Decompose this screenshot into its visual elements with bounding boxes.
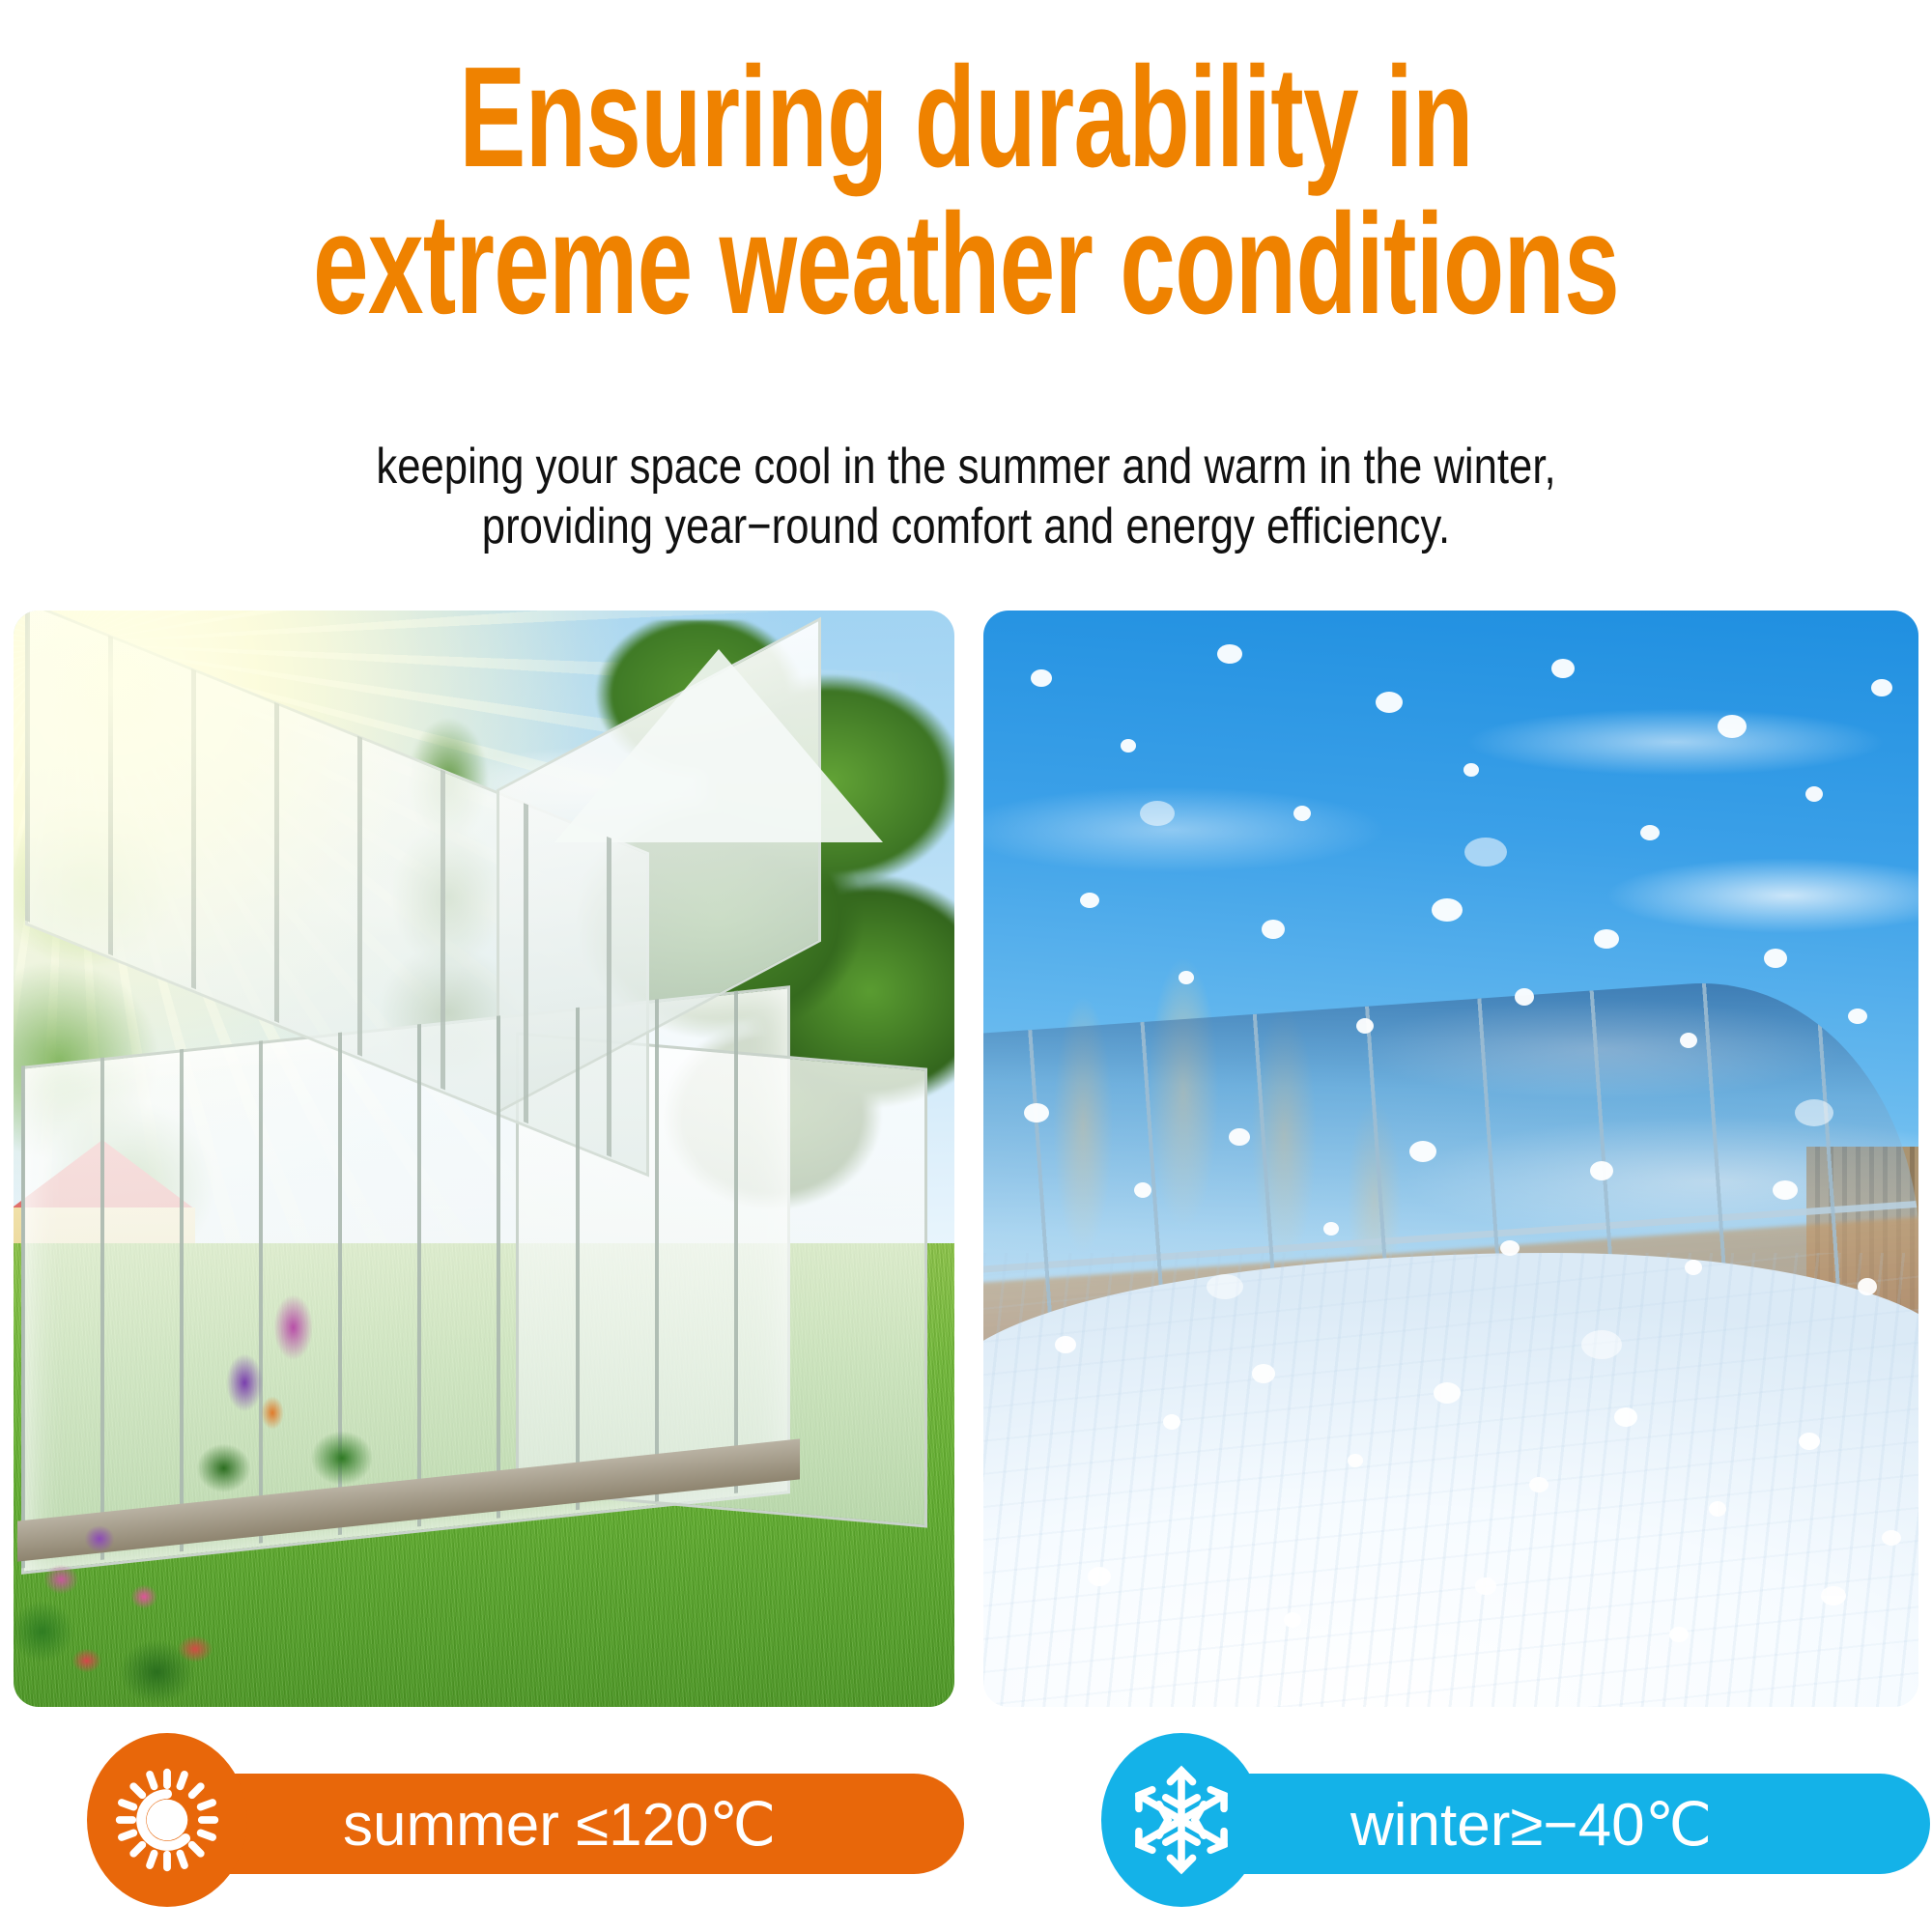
winter-badge-label: winter≥−40℃	[1350, 1789, 1712, 1860]
summer-badge-pill[interactable]: summer ≤120℃	[145, 1774, 964, 1874]
flower-bed-mid	[168, 1272, 516, 1523]
greenhouse-gable	[554, 649, 883, 842]
winter-badge-pill[interactable]: winter≥−40℃	[1157, 1774, 1930, 1874]
sun-icon	[113, 1766, 221, 1874]
page-subtitle: keeping your space cool in the summer an…	[155, 437, 1777, 556]
temperature-badge-row: summer ≤120℃	[0, 1729, 1932, 1932]
summer-photo	[14, 611, 954, 1707]
winter-badge-disc	[1101, 1733, 1262, 1907]
page-title: Ensuring durability in extreme weather c…	[290, 44, 1642, 338]
snowflake-icon	[1125, 1764, 1237, 1876]
summer-badge-disc	[87, 1733, 247, 1907]
summer-badge-label: summer ≤120℃	[343, 1789, 776, 1860]
winter-badge[interactable]: winter≥−40℃	[1101, 1729, 1845, 1918]
comparison-photo-row	[14, 611, 1918, 1707]
summer-badge[interactable]: summer ≤120℃	[87, 1729, 889, 1918]
snow-texture	[983, 1253, 1918, 1707]
winter-photo	[983, 611, 1918, 1707]
